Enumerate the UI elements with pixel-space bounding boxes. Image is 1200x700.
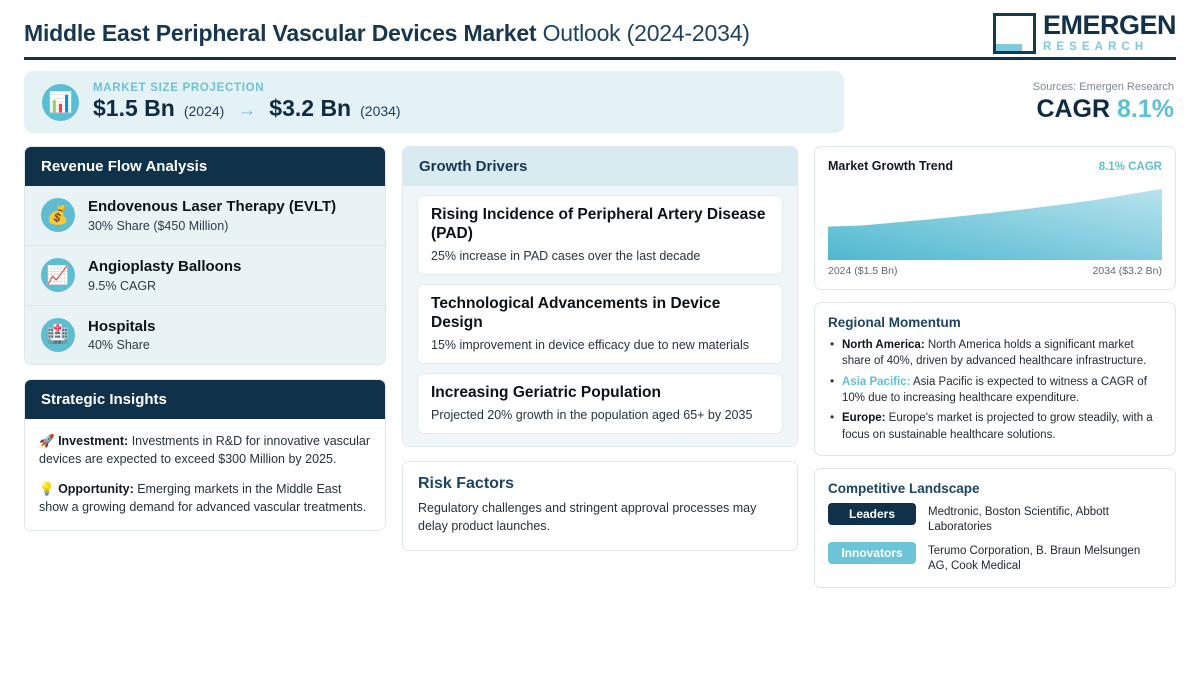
list-item: 💰 Endovenous Laser Therapy (EVLT) 30% Sh… — [25, 186, 385, 246]
bar-chart-icon: 📊 — [42, 84, 79, 121]
left-column: Revenue Flow Analysis 💰 Endovenous Laser… — [24, 146, 386, 531]
revenue-flow-heading: Revenue Flow Analysis — [25, 147, 385, 186]
sources-text: Sources: Emergen Research — [1033, 81, 1174, 93]
list-item-title: Angioplasty Balloons — [88, 258, 241, 277]
strategic-insights-body: 🚀 Investment: Investments in R&D for inn… — [25, 419, 385, 530]
banner-kicker: MARKET SIZE PROJECTION — [93, 82, 401, 94]
list-item: Rising Incidence of Peripheral Artery Di… — [417, 195, 783, 275]
list-item-title: Hospitals — [88, 318, 156, 337]
chart-increasing-icon: 📈 — [41, 258, 75, 292]
page-header: Middle East Peripheral Vascular Devices … — [24, 0, 1176, 52]
insight-label: Opportunity: — [58, 482, 134, 496]
logo-wordmark: EMERGEN RESEARCH — [1043, 12, 1176, 54]
regional-momentum-heading: Regional Momentum — [828, 315, 1162, 330]
list-item-sub: 9.5% CAGR — [88, 279, 241, 293]
region-label: Europe: — [842, 412, 885, 424]
cagr-badge: 8.1% CAGR — [1099, 161, 1162, 173]
middle-column: Growth Drivers Rising Incidence of Perip… — [402, 146, 798, 551]
money-bag-icon: 💰 — [41, 198, 75, 232]
chart-axis-labels: 2024 ($1.5 Bn) 2034 ($3.2 Bn) — [828, 265, 1162, 277]
arrow-icon: → — [233, 100, 260, 122]
innovators-badge: Innovators — [828, 542, 916, 564]
page-title-bold: Middle East Peripheral Vascular Devices … — [24, 20, 536, 46]
table-row: Leaders Medtronic, Boston Scientific, Ab… — [828, 503, 1162, 535]
page-title-light: Outlook (2024-2034) — [543, 20, 750, 46]
table-row: Innovators Terumo Corporation, B. Braun … — [828, 542, 1162, 574]
header-divider — [24, 57, 1176, 60]
driver-title: Rising Incidence of Peripheral Artery Di… — [431, 206, 769, 244]
insight-item: 💡 Opportunity: Emerging markets in the M… — [25, 480, 385, 530]
region-label: Asia Pacific: — [842, 376, 910, 388]
regional-momentum-list: North America: North America holds a sig… — [828, 337, 1162, 443]
growth-area-chart — [828, 182, 1162, 260]
list-item: Technological Advancements in Device Des… — [417, 284, 783, 364]
list-item: 🏥 Hospitals 40% Share — [25, 306, 385, 365]
growth-drivers-panel: Growth Drivers Rising Incidence of Perip… — [402, 146, 798, 447]
leaders-badge: Leaders — [828, 503, 916, 525]
growth-drivers-list: Rising Incidence of Peripheral Artery Di… — [403, 186, 797, 446]
driver-title: Increasing Geriatric Population — [431, 384, 769, 403]
banner-cagr-block: Sources: Emergen Research CAGR 8.1% — [1033, 81, 1176, 124]
list-item-sub: 40% Share — [88, 338, 156, 352]
driver-title: Technological Advancements in Device Des… — [431, 295, 769, 333]
logo-primary-text: EMERGEN — [1043, 12, 1176, 39]
competitive-landscape-heading: Competitive Landscape — [828, 481, 1162, 496]
insight-label: Investment: — [58, 434, 128, 448]
year-start: (2024) — [184, 103, 224, 119]
competitive-landscape-card: Competitive Landscape Leaders Medtronic,… — [814, 468, 1176, 588]
region-text: Europe's market is projected to grow ste… — [842, 412, 1153, 440]
list-item: Asia Pacific: Asia Pacific is expected t… — [828, 374, 1162, 407]
right-column: Market Growth Trend 8.1% CAGR — [814, 146, 1176, 588]
leaders-companies: Medtronic, Boston Scientific, Abbott Lab… — [928, 503, 1162, 535]
axis-label-end: 2034 ($3.2 Bn) — [1093, 265, 1162, 277]
list-item-sub: 30% Share ($450 Million) — [88, 219, 336, 233]
insight-item: 🚀 Investment: Investments in R&D for inn… — [25, 419, 385, 468]
list-item: 📈 Angioplasty Balloons 9.5% CAGR — [25, 246, 385, 306]
list-item-title: Endovenous Laser Therapy (EVLT) — [88, 198, 336, 217]
risk-factors-card: Risk Factors Regulatory challenges and s… — [402, 461, 798, 551]
market-growth-trend-card: Market Growth Trend 8.1% CAGR — [814, 146, 1176, 290]
cagr-value: 8.1% — [1117, 95, 1174, 123]
axis-label-start: 2024 ($1.5 Bn) — [828, 265, 897, 277]
revenue-flow-panel: Revenue Flow Analysis 💰 Endovenous Laser… — [24, 146, 386, 365]
cagr-label: CAGR — [1036, 95, 1110, 123]
lightbulb-icon: 💡 — [39, 482, 55, 496]
growth-drivers-heading: Growth Drivers — [403, 147, 797, 186]
market-size-banner: 📊 MARKET SIZE PROJECTION $1.5 Bn (2024) … — [24, 71, 1176, 133]
list-item: Europe: Europe's market is projected to … — [828, 410, 1162, 443]
value-start: $1.5 Bn — [93, 95, 175, 122]
value-end: $3.2 Bn — [269, 95, 351, 122]
area-chart-svg — [828, 182, 1162, 260]
list-item: Increasing Geriatric Population Projecte… — [417, 373, 783, 434]
content-columns: Revenue Flow Analysis 💰 Endovenous Laser… — [24, 146, 1176, 588]
year-end: (2034) — [360, 103, 400, 119]
driver-sub: 15% improvement in device efficacy due t… — [431, 338, 769, 352]
market-growth-trend-header: Market Growth Trend 8.1% CAGR — [828, 159, 1162, 173]
logo-square-icon — [993, 13, 1036, 54]
hospital-icon: 🏥 — [41, 318, 75, 352]
driver-sub: 25% increase in PAD cases over the last … — [431, 249, 769, 263]
regional-momentum-card: Regional Momentum North America: North A… — [814, 302, 1176, 456]
driver-sub: Projected 20% growth in the population a… — [431, 408, 769, 422]
cagr-headline: CAGR 8.1% — [1033, 95, 1174, 124]
region-label: North America: — [842, 339, 925, 351]
innovators-companies: Terumo Corporation, B. Braun Melsungen A… — [928, 542, 1162, 574]
logo-secondary-text: RESEARCH — [1043, 42, 1176, 54]
risk-factors-heading: Risk Factors — [418, 475, 782, 493]
strategic-insights-panel: Strategic Insights 🚀 Investment: Investm… — [24, 379, 386, 531]
risk-factors-text: Regulatory challenges and stringent appr… — [418, 499, 782, 535]
rocket-icon: 🚀 — [39, 434, 55, 448]
banner-values: $1.5 Bn (2024) → $3.2 Bn (2034) — [93, 95, 401, 122]
revenue-flow-list: 💰 Endovenous Laser Therapy (EVLT) 30% Sh… — [25, 186, 385, 364]
market-growth-trend-title: Market Growth Trend — [828, 159, 953, 173]
page-title: Middle East Peripheral Vascular Devices … — [24, 20, 750, 47]
strategic-insights-heading: Strategic Insights — [25, 380, 385, 419]
market-size-projection: 📊 MARKET SIZE PROJECTION $1.5 Bn (2024) … — [24, 71, 844, 133]
emergen-research-logo: EMERGEN RESEARCH — [993, 12, 1176, 54]
list-item: North America: North America holds a sig… — [828, 337, 1162, 370]
infographic-page: Middle East Peripheral Vascular Devices … — [0, 0, 1200, 700]
